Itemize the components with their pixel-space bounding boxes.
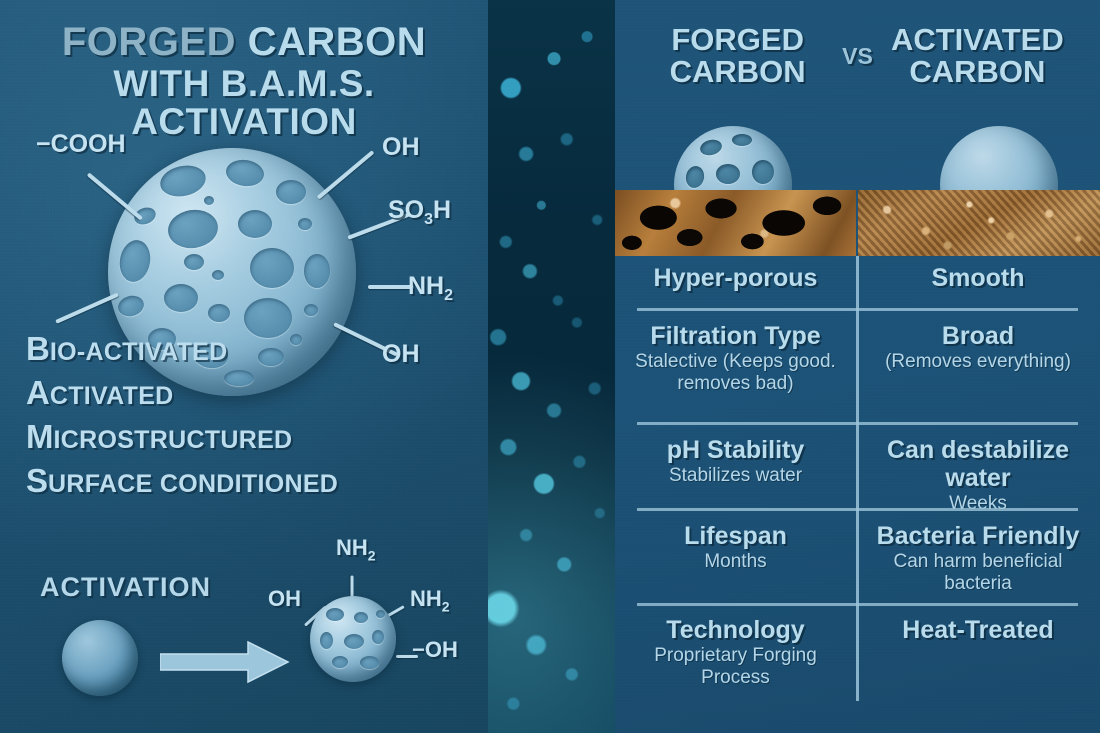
bams-capital-s: S <box>26 462 48 499</box>
cell-subtext: (Removes everything) <box>868 351 1088 373</box>
leader-line-oh-top <box>317 150 375 199</box>
cell-heading: Filtration Type <box>627 322 844 350</box>
leader-line-act-nh2-top <box>351 576 354 598</box>
table-row: Technology Proprietary Forging Process H… <box>615 616 1100 688</box>
label-act-nh2-top: NH2 <box>336 535 376 563</box>
table-cell-right: Smooth <box>856 264 1100 292</box>
left-title-line1: FORGED CARBON <box>0 22 488 63</box>
label-act-oh-left: OH <box>268 586 301 612</box>
title-word-carbon: CARBON <box>248 20 427 64</box>
table-row: pH Stability Stabilizes water Can destab… <box>615 436 1100 515</box>
cell-subtext: Weeks <box>868 493 1088 515</box>
bams-item-activated: ACTIVATED <box>26 376 338 409</box>
cell-subtext: Can harm beneficial bacteria <box>868 551 1088 594</box>
table-row-divider <box>637 603 1078 606</box>
table-row-divider <box>637 422 1078 425</box>
cell-heading: Smooth <box>868 264 1088 292</box>
table-cell-right: Can destabilize water Weeks <box>856 436 1100 515</box>
column-title-activated: ACTIVATED CARBON <box>885 24 1070 88</box>
cell-subtext: Stabilizes water <box>627 465 844 487</box>
porous-structure-texture-image <box>615 190 856 256</box>
table-cell-right: Heat-Treated <box>856 616 1100 688</box>
table-row: Hyper-porous Smooth <box>615 264 1100 292</box>
table-cell-left: pH Stability Stabilizes water <box>615 436 856 515</box>
underwater-bubbles-image <box>488 0 615 733</box>
cell-heading: Hyper-porous <box>627 264 844 292</box>
bams-item-surface: SURFACE CONDITIONED <box>26 464 338 497</box>
table-cell-left: Lifespan Months <box>615 522 856 594</box>
label-nh2: NH2 <box>408 272 453 305</box>
cell-heading: Can destabilize water <box>868 436 1088 492</box>
cell-heading: pH Stability <box>627 436 844 464</box>
bams-capital-a: A <box>26 374 50 411</box>
comparison-header: FORGED CARBON VS ACTIVATED CARBON <box>615 24 1100 88</box>
table-row-divider <box>637 308 1078 311</box>
label-oh-bottom: OH <box>382 340 420 369</box>
label-act-nh2-right: NH2 <box>410 586 450 614</box>
inactive-carbon-sphere <box>62 620 138 696</box>
table-cell-right: Bacteria Friendly Can harm beneficial ba… <box>856 522 1100 594</box>
cell-heading: Technology <box>627 616 844 644</box>
vs-separator: VS <box>842 43 873 70</box>
bams-item-microstructured: MICROSTRUCTURED <box>26 420 338 453</box>
label-oh-top: OH <box>382 133 420 162</box>
column-title-forged: FORGED CARBON <box>645 24 830 88</box>
table-row: Lifespan Months Bacteria Friendly Can ha… <box>615 522 1100 594</box>
granular-structure-texture-image <box>858 190 1100 256</box>
table-row-divider <box>637 508 1078 511</box>
bams-acronym-list: BIO-ACTIVATED ACTIVATED MICROSTRUCTURED … <box>26 332 338 508</box>
cell-heading: Bacteria Friendly <box>868 522 1088 550</box>
bams-word-surface: URFACE CONDITIONED <box>48 470 338 498</box>
table-cell-right: Broad (Removes everything) <box>856 322 1100 394</box>
bams-word-activated: CTIVATED <box>50 382 174 410</box>
activation-arrow <box>160 640 290 689</box>
table-cell-left: Hyper-porous <box>615 264 856 292</box>
cell-heading: Lifespan <box>627 522 844 550</box>
activated-carbon-sphere <box>310 596 396 682</box>
label-act-oh-right: −OH <box>412 637 458 663</box>
label-cooh: −COOH <box>36 130 126 159</box>
bams-word-bio: IO-ACTIVATED <box>50 338 228 366</box>
infographic-canvas: FORGED CARBON WITH B.A.M.S. ACTIVATION <box>0 0 1100 733</box>
comparison-table: Hyper-porous Smooth Filtration Type Stal… <box>615 256 1100 733</box>
left-title-line2: WITH B.A.M.S. ACTIVATION <box>0 65 488 140</box>
table-row: Filtration Type Stalective (Keeps good. … <box>615 322 1100 394</box>
left-title-block: FORGED CARBON WITH B.A.M.S. ACTIVATION <box>0 22 488 140</box>
leader-line-bio <box>55 293 119 324</box>
activation-title: ACTIVATION <box>40 572 211 603</box>
bams-capital-m: M <box>26 418 54 455</box>
title-word-forged: FORGED <box>62 20 236 64</box>
bams-word-microstructured: ICROSTRUCTURED <box>54 426 293 454</box>
cell-subtext: Months <box>627 551 844 573</box>
cell-heading: Broad <box>868 322 1088 350</box>
table-cell-left: Filtration Type Stalective (Keeps good. … <box>615 322 856 394</box>
left-panel: FORGED CARBON WITH B.A.M.S. ACTIVATION <box>0 0 488 733</box>
bams-item-bio: BIO-ACTIVATED <box>26 332 338 365</box>
table-cell-left: Technology Proprietary Forging Process <box>615 616 856 688</box>
bams-capital-b: B <box>26 330 50 367</box>
cell-subtext: Proprietary Forging Process <box>627 645 844 688</box>
label-so3h: SO3H <box>388 196 451 229</box>
cell-subtext: Stalective (Keeps good. removes bad) <box>627 351 844 394</box>
cell-heading: Heat-Treated <box>868 616 1088 644</box>
